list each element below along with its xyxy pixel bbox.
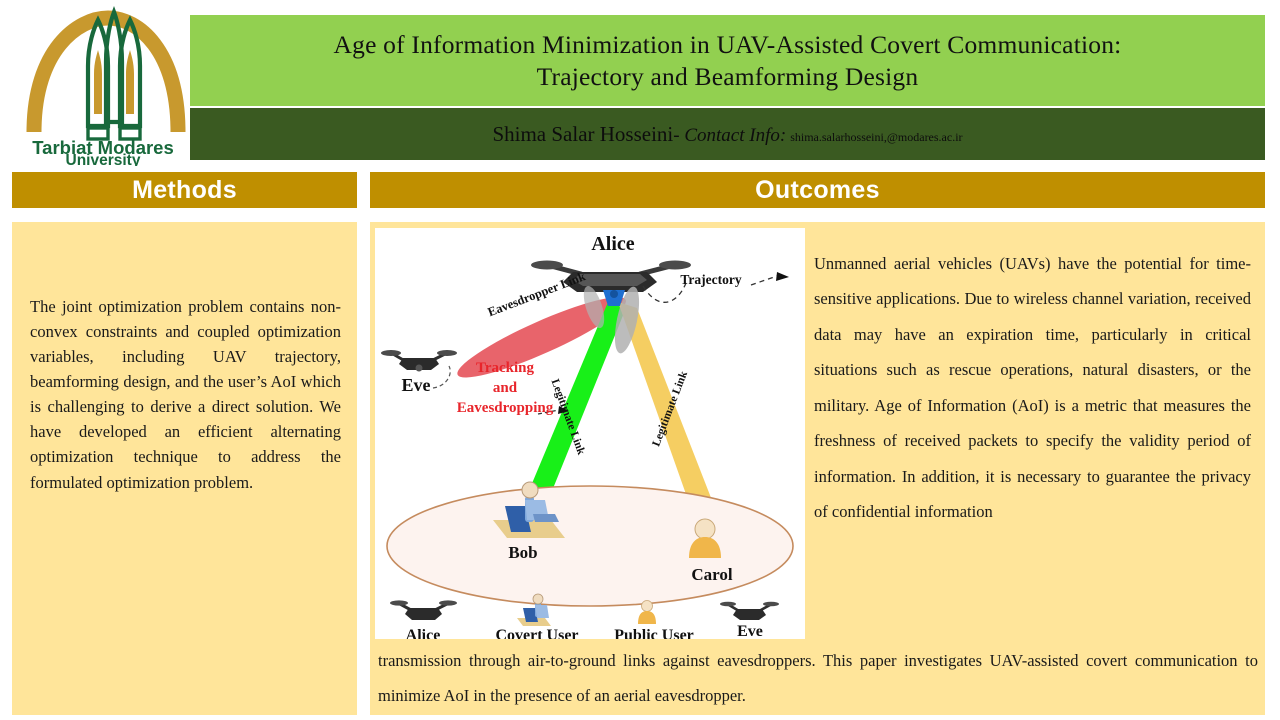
bob-label: Bob <box>508 543 537 562</box>
trajectory-arrow-head <box>776 272 789 281</box>
eve-pointer-line <box>433 366 450 388</box>
outcomes-body-tail: transmission through air-to-ground links… <box>378 643 1258 714</box>
tracking-label-line3: Eavesdropping <box>457 400 554 416</box>
alice-label: Alice <box>591 233 634 255</box>
carol-label: Carol <box>691 565 733 584</box>
author-name: Shima Salar Hosseini <box>492 122 673 146</box>
tracking-label-line1: Tracking <box>476 360 535 376</box>
trajectory-label: Trajectory <box>680 272 741 287</box>
section-title-outcomes: Outcomes <box>755 176 880 205</box>
system-model-figure: Alice Eve Trajecto <box>375 228 805 639</box>
figure-svg: Alice Eve Trajecto <box>375 228 805 639</box>
eve-drone-icon <box>381 350 457 372</box>
poster-title: Age of Information Minimization in UAV-A… <box>322 29 1134 91</box>
title-line-1: Age of Information Minimization in UAV-A… <box>334 30 1122 59</box>
legend-icon-eve <box>720 602 779 620</box>
legend-label-eve: Eve <box>737 623 763 639</box>
tracking-label-line2: and <box>493 380 518 396</box>
poster-canvas: Tarbiat Modares University Age of Inform… <box>0 0 1280 720</box>
outcomes-body-column: Unmanned aerial vehicles (UAVs) have the… <box>814 246 1251 530</box>
poster-title-bar: Age of Information Minimization in UAV-A… <box>190 15 1265 106</box>
methods-panel: The joint optimization problem contains … <box>12 222 357 715</box>
university-logo: Tarbiat Modares University <box>18 4 188 166</box>
author-bar: Shima Salar Hosseini- Contact Info: shim… <box>190 108 1265 160</box>
section-header-methods: Methods <box>12 172 357 208</box>
logo-line2: University <box>66 152 141 166</box>
author-line: Shima Salar Hosseini- Contact Info: shim… <box>492 122 962 147</box>
legend-label-alice: Alice <box>406 627 441 639</box>
legend-label-public-user: Public User <box>614 627 694 639</box>
title-line-2: Trajectory and Beamforming Design <box>537 62 919 91</box>
methods-body-text: The joint optimization problem contains … <box>30 294 341 495</box>
section-title-methods: Methods <box>132 176 237 205</box>
ground-coverage-ellipse <box>387 486 793 606</box>
legend-label-covert-user: Covert User <box>495 627 578 639</box>
eve-label: Eve <box>402 375 431 395</box>
outcomes-panel: Alice Eve Trajecto <box>370 222 1265 715</box>
contact-email[interactable]: shima.salarhosseini,@modares.ac.ir <box>790 130 962 144</box>
section-header-outcomes: Outcomes <box>370 172 1265 208</box>
legend-icon-alice <box>390 600 457 620</box>
trajectory-arrow-line <box>751 276 777 285</box>
contact-label: - Contact Info: <box>673 125 786 146</box>
